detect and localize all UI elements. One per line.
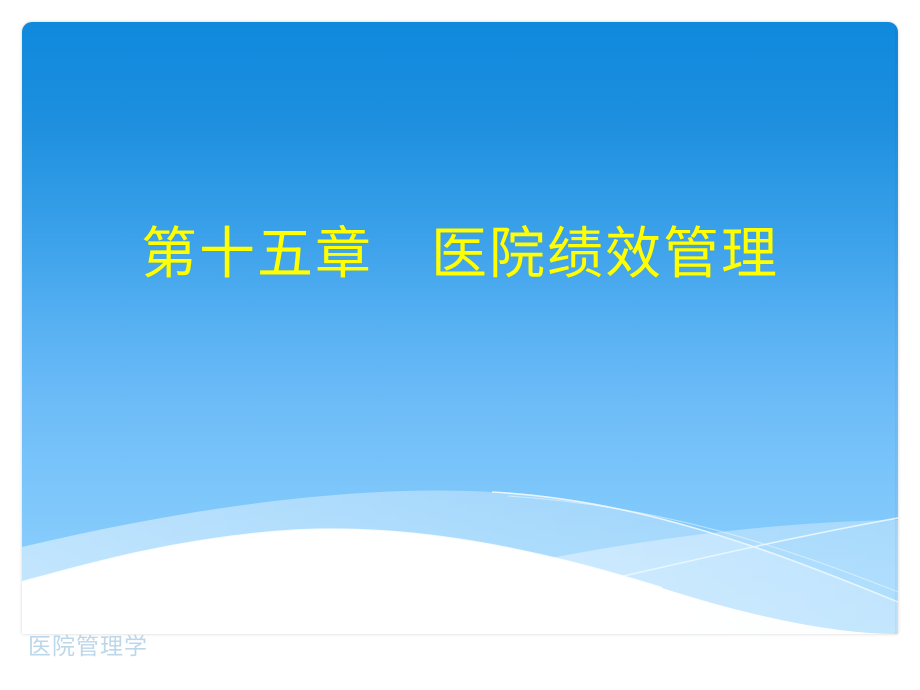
presentation-slide: 第十五章 医院绩效管理 医院管理学 [0, 0, 920, 690]
slide-footer-label: 医院管理学 [28, 632, 148, 662]
slide-blue-panel [22, 22, 898, 634]
decorative-wave-graphic [22, 22, 898, 634]
slide-title: 第十五章 医院绩效管理 [0, 222, 920, 288]
